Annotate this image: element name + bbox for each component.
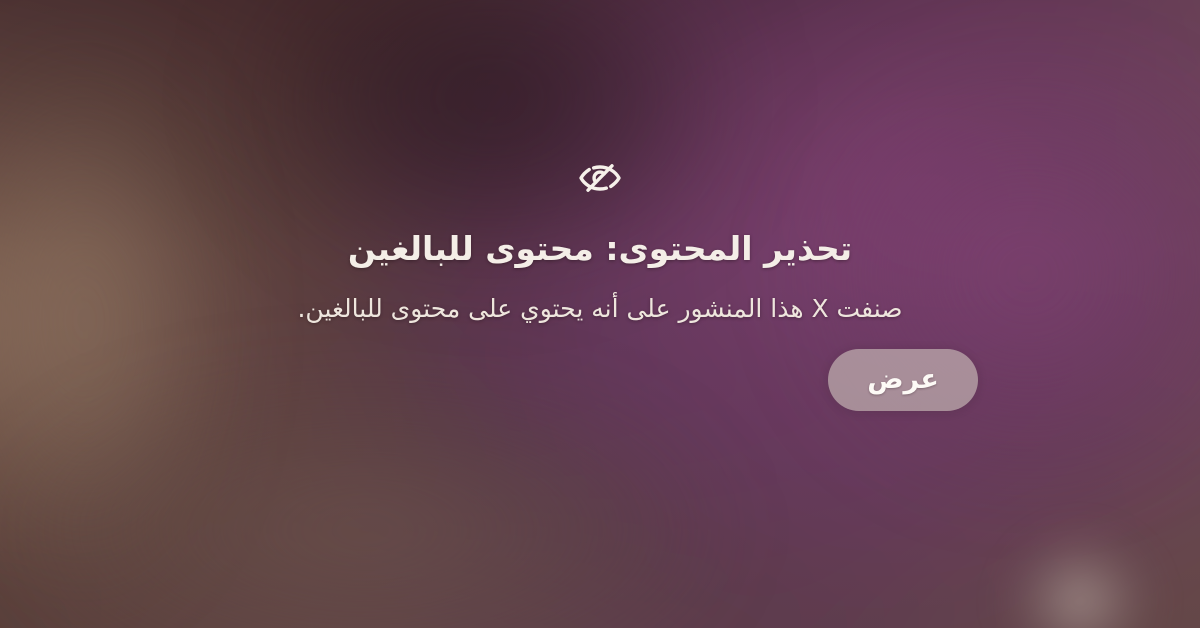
view-button[interactable]: عرض xyxy=(828,349,978,411)
page-title: تحذير المحتوى: محتوى للبالغين xyxy=(0,228,1200,270)
warning-description: صنفت X هذا المنشور على أنه يحتوي على محت… xyxy=(0,292,1200,326)
content-warning-panel: تحذير المحتوى: محتوى للبالغين صنفت X هذا… xyxy=(0,0,1200,628)
action-row: عرض xyxy=(0,349,1200,411)
adult-content-warning-screen: تحذير المحتوى: محتوى للبالغين صنفت X هذا… xyxy=(0,0,1200,628)
eye-off-icon xyxy=(574,152,626,204)
